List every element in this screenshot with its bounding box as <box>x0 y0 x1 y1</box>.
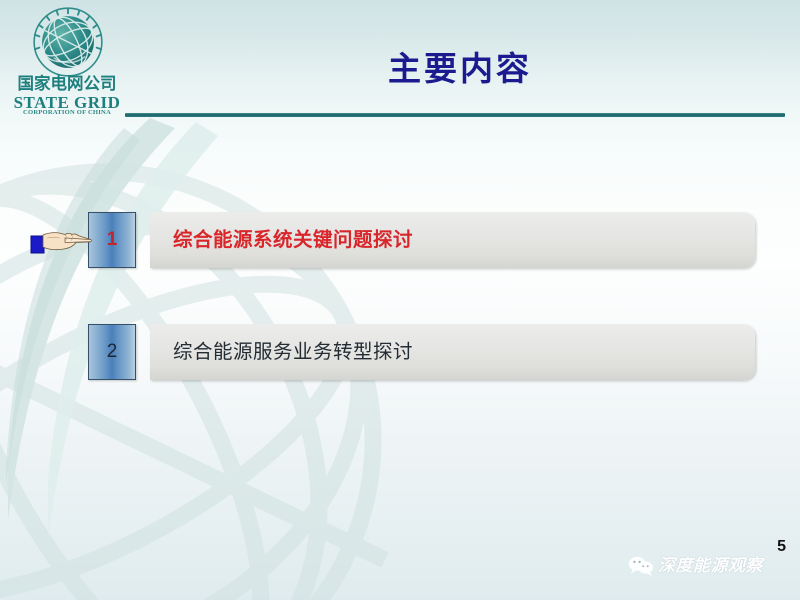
wechat-icon <box>628 555 654 577</box>
channel-watermark: 深度能源观察 <box>628 550 788 582</box>
agenda-number-box-2: 2 <box>88 324 136 380</box>
page-number: 5 <box>777 538 786 556</box>
agenda-label-2: 综合能源服务业务转型探讨 <box>150 342 413 362</box>
pointing-hand-cursor <box>30 218 94 260</box>
agenda-number-box-1: 1 <box>88 212 136 268</box>
logo-company-name-cn: 国家电网公司 <box>8 76 126 93</box>
agenda-number-2: 2 <box>107 341 118 363</box>
slide-canvas: 国家电网公司 STATE GRID CORPORATION OF CHINA 主… <box>0 0 800 600</box>
agenda-number-1: 1 <box>107 229 118 251</box>
agenda-bar-2[interactable]: 综合能源服务业务转型探讨 <box>150 324 755 380</box>
title-divider <box>125 113 785 117</box>
watermark-text: 深度能源观察 <box>658 558 763 575</box>
agenda-bar-1[interactable]: 综合能源系统关键问题探讨 <box>150 212 755 268</box>
state-grid-globe-emblem <box>32 6 104 78</box>
logo-company-subtitle: CORPORATION OF CHINA <box>8 110 126 117</box>
agenda-label-1: 综合能源系统关键问题探讨 <box>150 230 413 250</box>
state-grid-logo: 国家电网公司 STATE GRID CORPORATION OF CHINA <box>8 6 126 118</box>
page-title: 主要内容 <box>200 52 720 85</box>
